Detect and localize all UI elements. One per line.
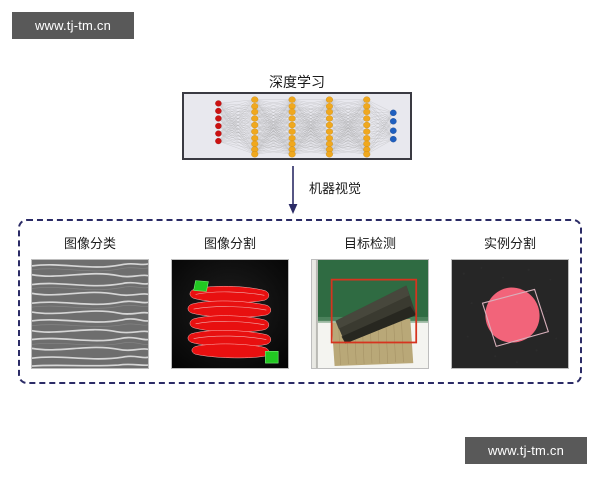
bounding-box-detection-image (311, 259, 429, 369)
instance-segmentation-graphic (452, 260, 568, 368)
task-label-image-segmentation: 图像分割 (204, 233, 256, 252)
task-instance-segmentation[interactable]: 实例分割 (451, 233, 569, 369)
red-segmentation-mask-image (171, 259, 289, 369)
task-image-segmentation[interactable]: 图像分割 (171, 233, 289, 369)
fabric-stripes-image (31, 259, 149, 369)
task-label-instance-segmentation: 实例分割 (484, 233, 536, 252)
deep-learning-title: 深度学习 (182, 72, 412, 92)
green-marker-top (194, 281, 209, 292)
green-marker-bottom (265, 351, 278, 363)
instance-mask-image (451, 259, 569, 369)
watermark-bottom: www.tj-tm.cn (465, 437, 587, 464)
neural-network-diagram (184, 94, 410, 158)
watermark-top: www.tj-tm.cn (12, 12, 134, 39)
machine-vision-label: 机器视觉 (309, 178, 361, 197)
input-layer-nodes (215, 100, 221, 143)
task-image-classification[interactable]: 图像分类 (31, 233, 149, 369)
output-layer-nodes (390, 110, 396, 142)
task-label-image-classification: 图像分类 (64, 233, 116, 252)
object-detection-graphic (312, 260, 428, 368)
down-arrow-icon (285, 166, 311, 216)
vision-tasks-container: 图像分类 (18, 219, 582, 384)
machine-vision-arrow-group: 机器视觉 (285, 166, 405, 216)
task-label-object-detection: 目标检测 (344, 233, 396, 252)
vision-tasks-row: 图像分类 (20, 221, 580, 382)
task-object-detection[interactable]: 目标检测 (311, 233, 429, 369)
fabric-stripes-graphic (32, 260, 148, 368)
neural-network-panel (182, 92, 412, 160)
segmentation-mask-graphic (172, 260, 288, 368)
